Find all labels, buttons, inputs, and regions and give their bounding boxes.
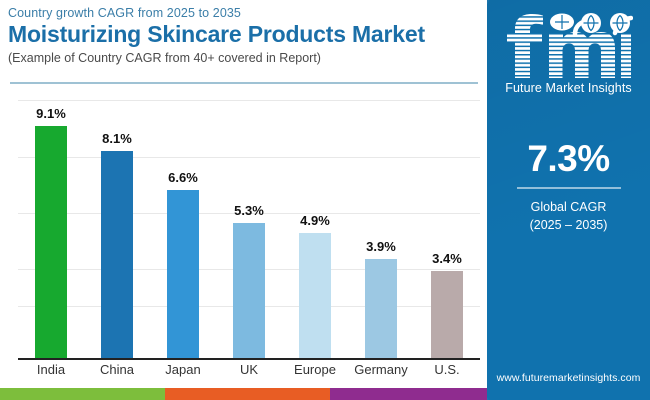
x-axis-label-india: India bbox=[18, 362, 84, 377]
accent-segment-green bbox=[0, 388, 165, 400]
header-divider bbox=[10, 82, 478, 84]
cagr-divider bbox=[517, 187, 621, 189]
eyebrow-text: Country growth CAGR from 2025 to 2035 bbox=[8, 6, 478, 20]
chart-region: Country growth CAGR from 2025 to 2035 Mo… bbox=[0, 0, 487, 388]
bar-u-s[interactable] bbox=[431, 271, 463, 358]
bar-japan[interactable] bbox=[167, 190, 199, 359]
global-cagr-period: (2025 – 2035) bbox=[487, 216, 650, 234]
bar-group: 9.1% bbox=[18, 92, 84, 358]
global-cagr-value: 7.3% bbox=[487, 140, 650, 177]
fmi-logo: Future Market Insights bbox=[487, 12, 650, 95]
bar-india[interactable] bbox=[35, 126, 67, 359]
bar-europe[interactable] bbox=[299, 233, 331, 358]
fmi-logo-icon bbox=[505, 12, 633, 78]
bar-uk[interactable] bbox=[233, 223, 265, 359]
website-url: www.futuremarketinsights.com bbox=[487, 372, 650, 384]
bar-chart-plot: 9.1%8.1%6.6%5.3%4.9%3.9%3.4% bbox=[0, 90, 487, 360]
bar-germany[interactable] bbox=[365, 259, 397, 359]
x-axis-label-germany: Germany bbox=[348, 362, 414, 377]
x-axis-label-china: China bbox=[84, 362, 150, 377]
bar-value-label: 9.1% bbox=[18, 106, 84, 121]
accent-segment-orange bbox=[165, 388, 330, 400]
x-axis-label-europe: Europe bbox=[282, 362, 348, 377]
bar-value-label: 4.9% bbox=[282, 213, 348, 228]
page-title: Moisturizing Skincare Products Market bbox=[8, 21, 478, 48]
bar-group: 3.4% bbox=[414, 92, 480, 358]
x-axis-category-labels: IndiaChinaJapanUKEuropeGermanyU.S. bbox=[0, 362, 487, 386]
bar-value-label: 5.3% bbox=[216, 203, 282, 218]
brand-panel: Future Market Insights 7.3% Global CAGR … bbox=[487, 0, 650, 400]
x-axis-label-uk: UK bbox=[216, 362, 282, 377]
bar-group: 4.9% bbox=[282, 92, 348, 358]
bar-group: 5.3% bbox=[216, 92, 282, 358]
bar-value-label: 6.6% bbox=[150, 170, 216, 185]
global-cagr-block: 7.3% Global CAGR (2025 – 2035) bbox=[487, 140, 650, 234]
bar-china[interactable] bbox=[101, 151, 133, 358]
bar-group: 6.6% bbox=[150, 92, 216, 358]
global-cagr-label: Global CAGR bbox=[487, 198, 650, 216]
infographic-root: Country growth CAGR from 2025 to 2035 Mo… bbox=[0, 0, 650, 400]
bar-group: 3.9% bbox=[348, 92, 414, 358]
bar-value-label: 8.1% bbox=[84, 131, 150, 146]
bar-group: 8.1% bbox=[84, 92, 150, 358]
x-axis-line bbox=[18, 358, 480, 360]
bar-value-label: 3.4% bbox=[414, 251, 480, 266]
chart-header: Country growth CAGR from 2025 to 2035 Mo… bbox=[8, 6, 478, 65]
fmi-logo-wordmark: Future Market Insights bbox=[487, 81, 650, 95]
accent-segment-purple bbox=[330, 388, 487, 400]
x-axis-label-japan: Japan bbox=[150, 362, 216, 377]
chart-subtitle: (Example of Country CAGR from 40+ covere… bbox=[8, 51, 478, 65]
x-axis-label-u-s: U.S. bbox=[414, 362, 480, 377]
bar-value-label: 3.9% bbox=[348, 239, 414, 254]
